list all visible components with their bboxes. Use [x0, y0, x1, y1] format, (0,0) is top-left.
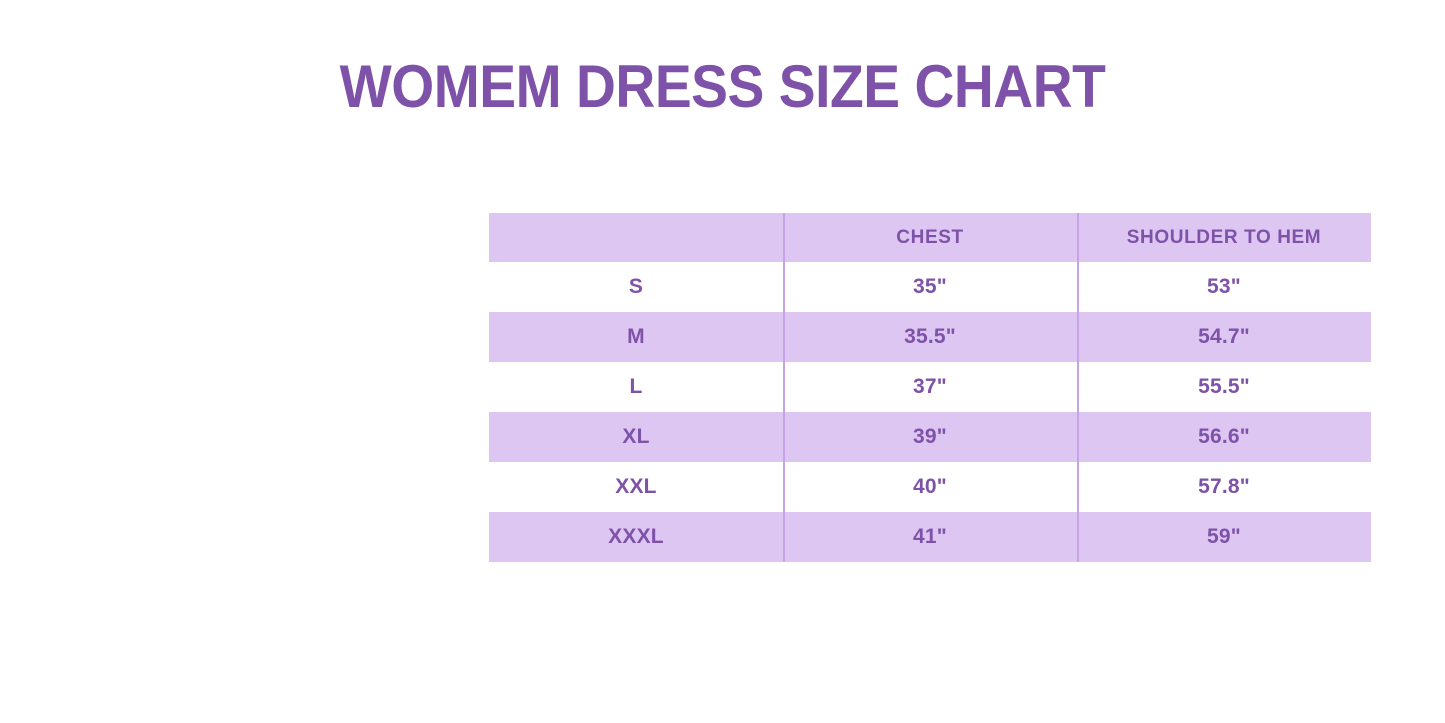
cell-chest: 39" [783, 412, 1077, 462]
table-row: L 37" 55.5" [489, 362, 1371, 412]
table-body: S 35" 53" M 35.5" [489, 262, 1371, 562]
cell-size-value: XL [489, 412, 783, 462]
size-chart-table-container: CHEST SHOULDER TO HEM S 35" 53" [489, 213, 1371, 566]
cell-shoulder-to-hem-value: 59" [1077, 512, 1371, 562]
column-header-chest: CHEST [783, 213, 1077, 262]
cell-shoulder-to-hem: 55.5" [1077, 362, 1371, 412]
table-row: XXL 40" 57.8" [489, 462, 1371, 512]
table-row: XL 39" 56.6" [489, 412, 1371, 462]
cell-chest: 35" [783, 262, 1077, 312]
cell-size: M [489, 312, 783, 362]
cell-shoulder-to-hem-value: 55.5" [1077, 362, 1371, 412]
cell-size-value: XXXL [489, 512, 783, 562]
cell-size: XL [489, 412, 783, 462]
cell-chest-value: 35.5" [783, 312, 1077, 362]
cell-chest-value: 41" [783, 512, 1077, 562]
table-header-row: CHEST SHOULDER TO HEM [489, 213, 1371, 262]
cell-shoulder-to-hem-value: 53" [1077, 262, 1371, 312]
cell-chest: 40" [783, 462, 1077, 512]
table-row: S 35" 53" [489, 262, 1371, 312]
cell-shoulder-to-hem-value: 54.7" [1077, 312, 1371, 362]
cell-chest: 41" [783, 512, 1077, 562]
cell-size: XXXL [489, 512, 783, 562]
cell-chest-value: 35" [783, 262, 1077, 312]
table-row: M 35.5" 54.7" [489, 312, 1371, 362]
cell-chest-value: 39" [783, 412, 1077, 462]
cell-shoulder-to-hem: 54.7" [1077, 312, 1371, 362]
cell-shoulder-to-hem: 59" [1077, 512, 1371, 562]
cell-size-value: XXL [489, 462, 783, 512]
cell-shoulder-to-hem: 57.8" [1077, 462, 1371, 512]
table-row: XXXL 41" 59" [489, 512, 1371, 562]
cell-chest-value: 37" [783, 362, 1077, 412]
cell-size-value: M [489, 312, 783, 362]
cell-size-value: L [489, 362, 783, 412]
cell-size: L [489, 362, 783, 412]
cell-shoulder-to-hem-value: 56.6" [1077, 412, 1371, 462]
column-header-shoulder-to-hem: SHOULDER TO HEM [1077, 213, 1371, 262]
table-header: CHEST SHOULDER TO HEM [489, 213, 1371, 262]
column-header-chest-label: CHEST [783, 213, 1077, 262]
page-title: WOMEM DRESS SIZE CHART [58, 55, 1387, 119]
cell-size-value: S [489, 262, 783, 312]
cell-chest: 35.5" [783, 312, 1077, 362]
cell-shoulder-to-hem: 53" [1077, 262, 1371, 312]
size-chart-page: WOMEM DRESS SIZE CHART CHEST SHOULDER TO… [0, 0, 1445, 723]
cell-chest: 37" [783, 362, 1077, 412]
cell-chest-value: 40" [783, 462, 1077, 512]
cell-shoulder-to-hem: 56.6" [1077, 412, 1371, 462]
size-chart-table: CHEST SHOULDER TO HEM S 35" 53" [489, 213, 1371, 562]
cell-shoulder-to-hem-value: 57.8" [1077, 462, 1371, 512]
cell-size: S [489, 262, 783, 312]
column-header-size [489, 213, 783, 262]
cell-size: XXL [489, 462, 783, 512]
column-header-shoulder-to-hem-label: SHOULDER TO HEM [1077, 213, 1371, 262]
